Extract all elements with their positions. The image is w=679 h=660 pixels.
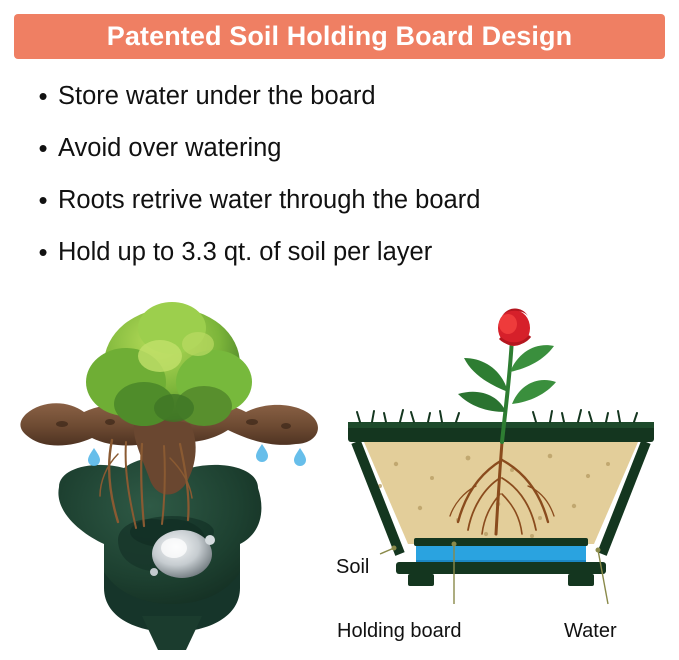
list-item-label: Store water under the board [58,72,376,120]
list-item: • Hold up to 3.3 qt. of soil per layer [28,228,668,276]
list-item: • Roots retrive water through the board [28,176,668,224]
list-item-label: Roots retrive water through the board [58,176,480,224]
list-item: • Avoid over watering [28,124,668,172]
holding-board [414,538,588,546]
planter-photo [14,272,334,650]
cross-section-diagram: Soil Holding board Water [336,272,666,650]
feature-list: • Store water under the board • Avoid ov… [28,72,668,280]
list-item-label: Avoid over watering [58,124,282,172]
product-infographic: Patented Soil Holding Board Design • Sto… [0,0,679,660]
list-item-label: Hold up to 3.3 qt. of soil per layer [58,228,432,276]
label-holding-board: Holding board [337,620,462,643]
header-banner: Patented Soil Holding Board Design [14,14,665,59]
page-title: Patented Soil Holding Board Design [107,21,572,52]
list-item: • Store water under the board [28,72,668,120]
bullet-icon: • [28,124,58,172]
bullet-icon: • [28,72,58,120]
cross-section-illustration [336,272,666,650]
planter-photo-illustration [14,272,334,650]
label-water: Water [564,620,617,643]
bullet-icon: • [28,176,58,224]
label-soil: Soil [336,556,369,579]
bullet-icon: • [28,228,58,276]
